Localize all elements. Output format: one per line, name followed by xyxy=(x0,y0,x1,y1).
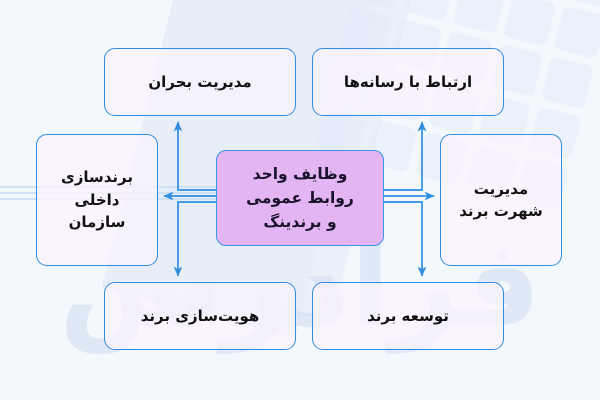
node-center-pr-branding-unit[interactable]: وظایف واحد روابط عمومی و برندینگ xyxy=(216,150,384,246)
node-internal-branding[interactable]: برندسازی داخلی سازمان xyxy=(36,134,158,266)
diagram-canvas: فرادرس مدیریت بحران ارتباط با رسانه‌ها xyxy=(0,0,600,400)
node-media-relations-label: ارتباط با رسانه‌ها xyxy=(344,71,472,94)
node-brand-development-label: توسعه برند xyxy=(367,305,449,328)
node-center-line1: وظایف واحد xyxy=(253,165,348,183)
connector-center-to-identity xyxy=(178,202,216,276)
node-internal-branding-line2: داخلی سازمان xyxy=(69,191,126,232)
node-brand-reputation-line1: مدیریت xyxy=(474,180,528,198)
node-brand-identity[interactable]: هویت‌سازی برند xyxy=(104,282,296,350)
node-brand-reputation-management[interactable]: مدیریت شهرت برند xyxy=(440,134,562,266)
node-media-relations[interactable]: ارتباط با رسانه‌ها xyxy=(312,48,504,116)
node-center-line2: روابط عمومی xyxy=(246,189,354,207)
connector-center-to-development xyxy=(384,202,422,276)
node-brand-reputation-line2: شهرت برند xyxy=(459,202,543,220)
node-crisis-management-label: مدیریت بحران xyxy=(148,71,251,94)
node-brand-reputation-management-label: مدیریت شهرت برند xyxy=(459,178,543,223)
node-brand-development[interactable]: توسعه برند xyxy=(312,282,504,350)
node-crisis-management[interactable]: مدیریت بحران xyxy=(104,48,296,116)
node-center-label: وظایف واحد روابط عمومی و برندینگ xyxy=(246,162,354,234)
connector-center-to-crisis xyxy=(178,122,216,190)
node-internal-branding-label: برندسازی داخلی سازمان xyxy=(45,166,149,234)
connector-center-to-media xyxy=(384,122,422,190)
node-center-line3: و برندینگ xyxy=(263,213,336,231)
node-brand-identity-label: هویت‌سازی برند xyxy=(141,305,260,328)
node-internal-branding-line1: برندسازی xyxy=(61,168,133,186)
